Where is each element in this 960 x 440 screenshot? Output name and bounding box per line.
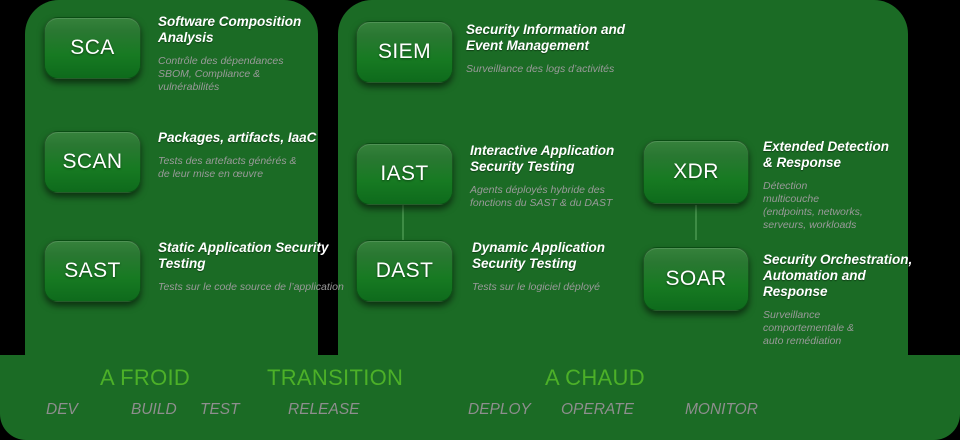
stage-label-release: RELEASE (288, 401, 360, 419)
text-dast: Dynamic Application Security Testing Tes… (472, 240, 650, 294)
tile-sca-label: SCA (70, 36, 114, 60)
tile-xdr[interactable]: XDR (643, 140, 749, 204)
text-soar: Security Orchestration, Automation and R… (763, 252, 933, 348)
stage-label-test: TEST (200, 401, 240, 419)
connector-iast-dast (402, 205, 404, 240)
tile-sast-label: SAST (64, 259, 120, 283)
tile-soar-label: SOAR (665, 267, 726, 291)
tile-sca[interactable]: SCA (44, 17, 141, 79)
phase-label-chaud: A CHAUD (545, 365, 645, 391)
stage-label-monitor: MONITOR (685, 401, 758, 419)
desc-sca: Contrôle des dépendances SBOM, Complianc… (158, 55, 330, 94)
tile-dast-label: DAST (376, 259, 434, 283)
text-xdr: Extended Detection & Response Détection … (763, 139, 933, 232)
desc-sast: Tests sur le code source de l’applicatio… (158, 281, 348, 294)
stage-label-operate: OPERATE (561, 401, 634, 419)
desc-iast: Agents déployés hybride des fonctions du… (470, 184, 648, 210)
phase-label-transition: TRANSITION (267, 365, 403, 391)
text-siem: Security Information and Event Managemen… (466, 22, 646, 76)
tile-xdr-label: XDR (673, 160, 719, 184)
tile-scan-label: SCAN (63, 150, 123, 174)
tile-dast[interactable]: DAST (356, 240, 453, 302)
text-scan: Packages, artifacts, IaaC Tests des arte… (158, 130, 334, 181)
tile-sast[interactable]: SAST (44, 240, 141, 302)
tile-siem[interactable]: SIEM (356, 21, 453, 83)
phase-label-froid: A FROID (100, 365, 190, 391)
title-iast: Interactive Application Security Testing (470, 143, 648, 175)
tile-iast[interactable]: IAST (356, 143, 453, 205)
stage-label-deploy: DEPLOY (468, 401, 531, 419)
tile-iast-label: IAST (380, 162, 428, 186)
text-sast: Static Application Security Testing Test… (158, 240, 348, 294)
diagram-canvas: SCA Software Composition Analysis Contrô… (0, 0, 960, 440)
desc-siem: Surveillance des logs d’activités (466, 63, 646, 76)
desc-scan: Tests des artefacts générés & de leur mi… (158, 155, 334, 181)
text-sca: Software Composition Analysis Contrôle d… (158, 14, 330, 94)
tile-siem-label: SIEM (378, 40, 431, 64)
text-iast: Interactive Application Security Testing… (470, 143, 648, 210)
title-sast: Static Application Security Testing (158, 240, 348, 272)
title-siem: Security Information and Event Managemen… (466, 22, 646, 54)
title-scan: Packages, artifacts, IaaC (158, 130, 334, 146)
desc-soar: Surveillance comportementale & auto remé… (763, 309, 933, 348)
title-dast: Dynamic Application Security Testing (472, 240, 650, 272)
title-sca: Software Composition Analysis (158, 14, 330, 46)
title-soar: Security Orchestration, Automation and R… (763, 252, 933, 300)
connector-xdr-dast (695, 205, 697, 240)
stage-label-dev: DEV (46, 401, 78, 419)
stage-label-build: BUILD (131, 401, 177, 419)
tile-scan[interactable]: SCAN (44, 131, 141, 193)
tile-soar[interactable]: SOAR (643, 247, 749, 311)
desc-dast: Tests sur le logiciel déployé (472, 281, 650, 294)
desc-xdr: Détection multicouche (endpoints, networ… (763, 180, 933, 232)
title-xdr: Extended Detection & Response (763, 139, 933, 171)
